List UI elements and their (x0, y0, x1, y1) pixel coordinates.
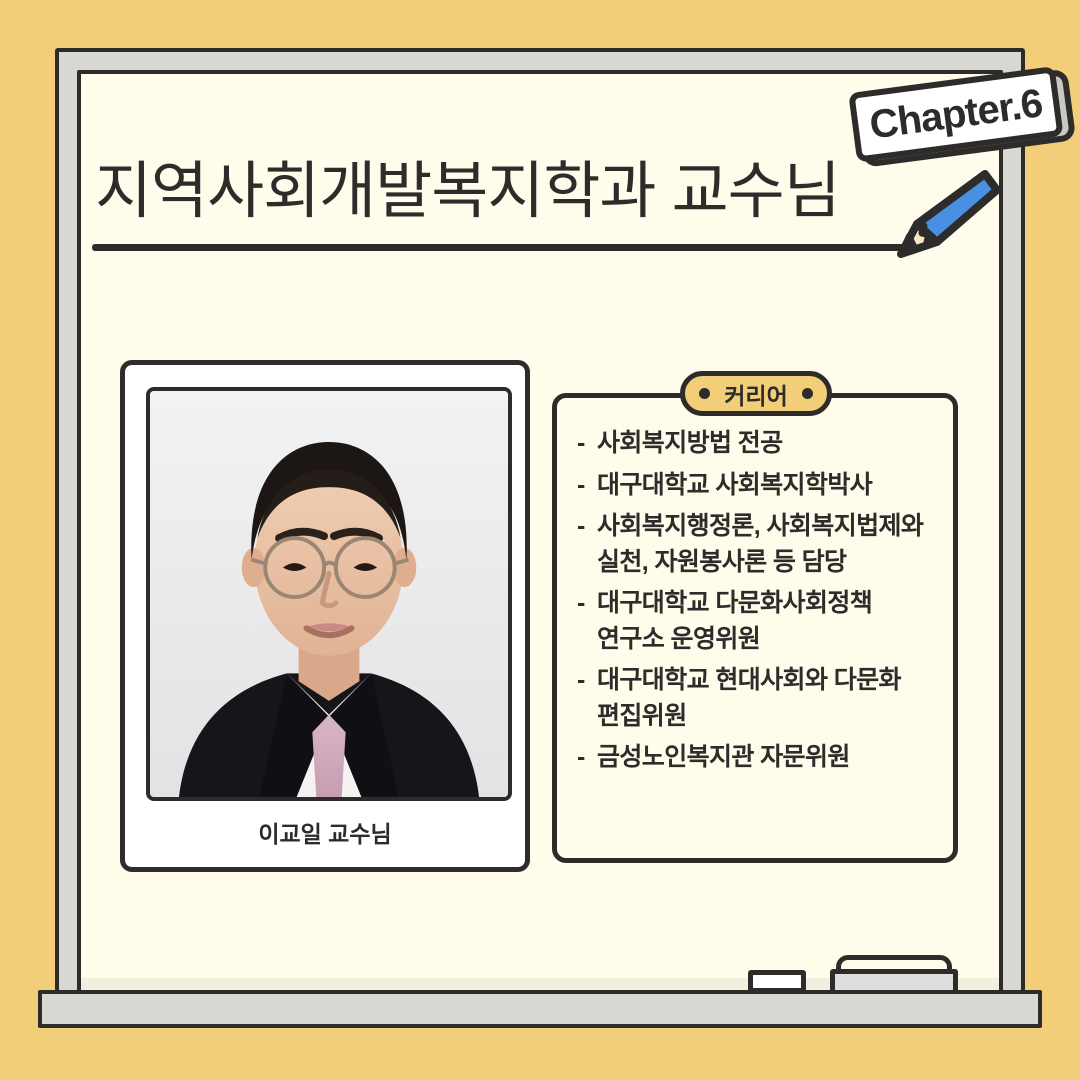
page-title: 지역사회개발복지학과 교수님 (95, 140, 840, 230)
career-item-dash: - (577, 468, 597, 504)
career-item-label: 대구대학교 사회복지학박사 (597, 468, 935, 504)
title-underline (92, 244, 922, 251)
career-item-label: 대구대학교 현대사회와 다문화편집위원 (597, 663, 935, 734)
photo-caption: 이교일 교수님 (125, 815, 525, 849)
career-item-label: 금성노인복지관 자문위원 (597, 740, 935, 776)
career-item-line: 실천, 자원봉사론 등 담당 (597, 548, 846, 576)
career-item-line: 대구대학교 다문화사회정책 (597, 589, 872, 617)
career-item-line: 편집위원 (597, 702, 687, 730)
whiteboard-tray (38, 990, 1042, 1028)
career-item: -대구대학교 현대사회와 다문화편집위원 (577, 663, 935, 734)
pencil-icon (893, 168, 1003, 268)
career-item-line: 연구소 운영위원 (597, 625, 760, 653)
career-item-dash: - (577, 426, 597, 462)
career-item-line: 대구대학교 현대사회와 다문화 (597, 666, 901, 694)
career-item-line: 사회복지행정론, 사회복지법제와 (597, 512, 923, 540)
career-badge-label: 커리어 (724, 377, 787, 411)
career-badge-dot-right (802, 388, 813, 399)
career-item-dash: - (577, 586, 597, 622)
eraser-icon (830, 955, 958, 993)
professor-portrait (146, 387, 512, 801)
career-item: -사회복지방법 전공 (577, 426, 935, 462)
chapter-badge-label: Chapter.6 (867, 81, 1045, 148)
career-item-dash: - (577, 509, 597, 545)
career-item-label: 사회복지방법 전공 (597, 426, 935, 462)
career-item: -대구대학교 사회복지학박사 (577, 468, 935, 504)
career-item: -사회복지행정론, 사회복지법제와실천, 자원봉사론 등 담당 (577, 509, 935, 580)
career-card: -사회복지방법 전공-대구대학교 사회복지학박사-사회복지행정론, 사회복지법제… (552, 393, 958, 863)
professor-photo-card: 이교일 교수님 (120, 360, 530, 872)
career-badge: 커리어 (680, 371, 832, 416)
career-badge-dot-left (699, 388, 710, 399)
career-item: -대구대학교 다문화사회정책연구소 운영위원 (577, 586, 935, 657)
career-item-label: 대구대학교 다문화사회정책연구소 운영위원 (597, 586, 935, 657)
career-item-line: 사회복지방법 전공 (597, 429, 783, 457)
career-item-line: 금성노인복지관 자문위원 (597, 743, 850, 771)
career-list: -사회복지방법 전공-대구대학교 사회복지학박사-사회복지행정론, 사회복지법제… (557, 426, 953, 782)
career-item-dash: - (577, 663, 597, 699)
career-item-line: 대구대학교 사회복지학박사 (597, 471, 872, 499)
career-item: -금성노인복지관 자문위원 (577, 740, 935, 776)
career-item-label: 사회복지행정론, 사회복지법제와실천, 자원봉사론 등 담당 (597, 509, 935, 580)
career-item-dash: - (577, 740, 597, 776)
